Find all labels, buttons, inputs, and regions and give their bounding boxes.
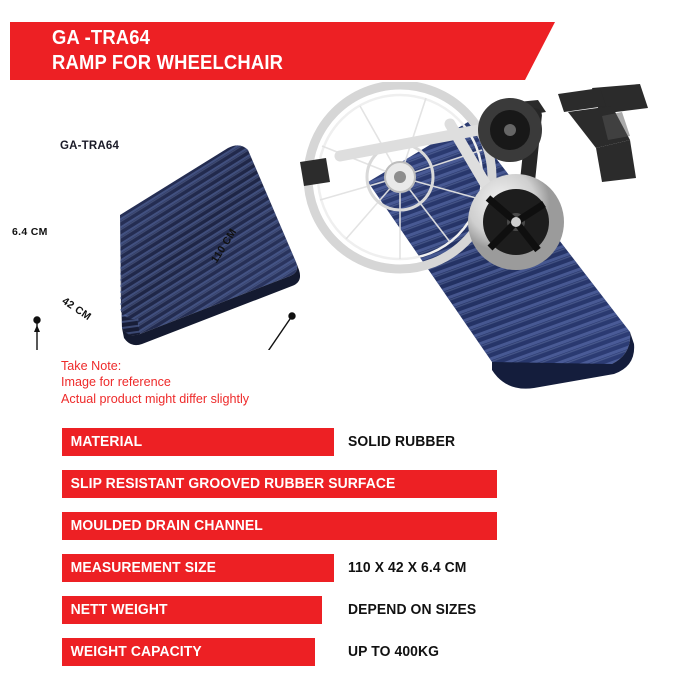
reference-note: Take Note: Image for reference Actual pr… xyxy=(61,358,249,407)
header-title-block: GA -TRA64 RAMP FOR WHEELCHAIR xyxy=(52,26,283,75)
wheelchair-caster-secondary xyxy=(478,98,542,162)
table-row: MEASUREMENT SIZE 110 X 42 X 6.4 CM xyxy=(0,551,700,593)
table-row: MOULDED DRAIN CHANNEL xyxy=(0,509,700,551)
spec-value: 110 X 42 X 6.4 CM xyxy=(348,554,466,582)
spec-label: NETT WEIGHT xyxy=(62,602,168,618)
table-row: WEIGHT CAPACITY UP TO 400KG xyxy=(0,635,700,677)
wheelchair-photo-svg xyxy=(300,82,700,392)
spec-label: SLIP RESISTANT GROOVED RUBBER SURFACE xyxy=(62,476,395,492)
illustration-product-code: GA-TRA64 xyxy=(60,140,119,152)
spec-label-bar: SLIP RESISTANT GROOVED RUBBER SURFACE xyxy=(62,470,497,498)
spec-label-bar: MOULDED DRAIN CHANNEL xyxy=(62,512,497,540)
product-illustration: GA-TRA64 xyxy=(0,120,320,350)
spec-label-bar: MATERIAL xyxy=(62,428,334,456)
spec-label-bar: WEIGHT CAPACITY xyxy=(62,638,315,666)
wheelchair-side-bracket xyxy=(300,158,330,186)
product-code: GA -TRA64 xyxy=(52,26,283,51)
spec-label: MEASUREMENT SIZE xyxy=(62,560,216,576)
note-line-2: Image for reference xyxy=(61,374,249,390)
note-line-3: Actual product might differ slightly xyxy=(61,391,249,407)
note-line-1: Take Note: xyxy=(61,358,249,374)
spec-label: MATERIAL xyxy=(62,434,142,450)
ramp-diagram-svg xyxy=(0,120,320,350)
table-row: NETT WEIGHT DEPEND ON SIZES xyxy=(0,593,700,635)
spec-label-bar: NETT WEIGHT xyxy=(62,596,322,624)
spec-label: MOULDED DRAIN CHANNEL xyxy=(62,518,263,534)
specification-table: MATERIAL SOLID RUBBER SLIP RESISTANT GRO… xyxy=(0,425,700,677)
spec-value: SOLID RUBBER xyxy=(348,428,455,456)
table-row: MATERIAL SOLID RUBBER xyxy=(0,425,700,467)
dimension-label-height: 6.4 CM xyxy=(12,226,48,238)
spec-value: UP TO 400KG xyxy=(348,638,439,666)
spec-value: DEPEND ON SIZES xyxy=(348,596,476,624)
wheelchair-ramp-photo xyxy=(300,82,700,392)
spec-label: WEIGHT CAPACITY xyxy=(62,644,202,660)
table-row: SLIP RESISTANT GROOVED RUBBER SURFACE xyxy=(0,467,700,509)
page-title: RAMP FOR WHEELCHAIR xyxy=(52,51,283,76)
spec-label-bar: MEASUREMENT SIZE xyxy=(62,554,334,582)
